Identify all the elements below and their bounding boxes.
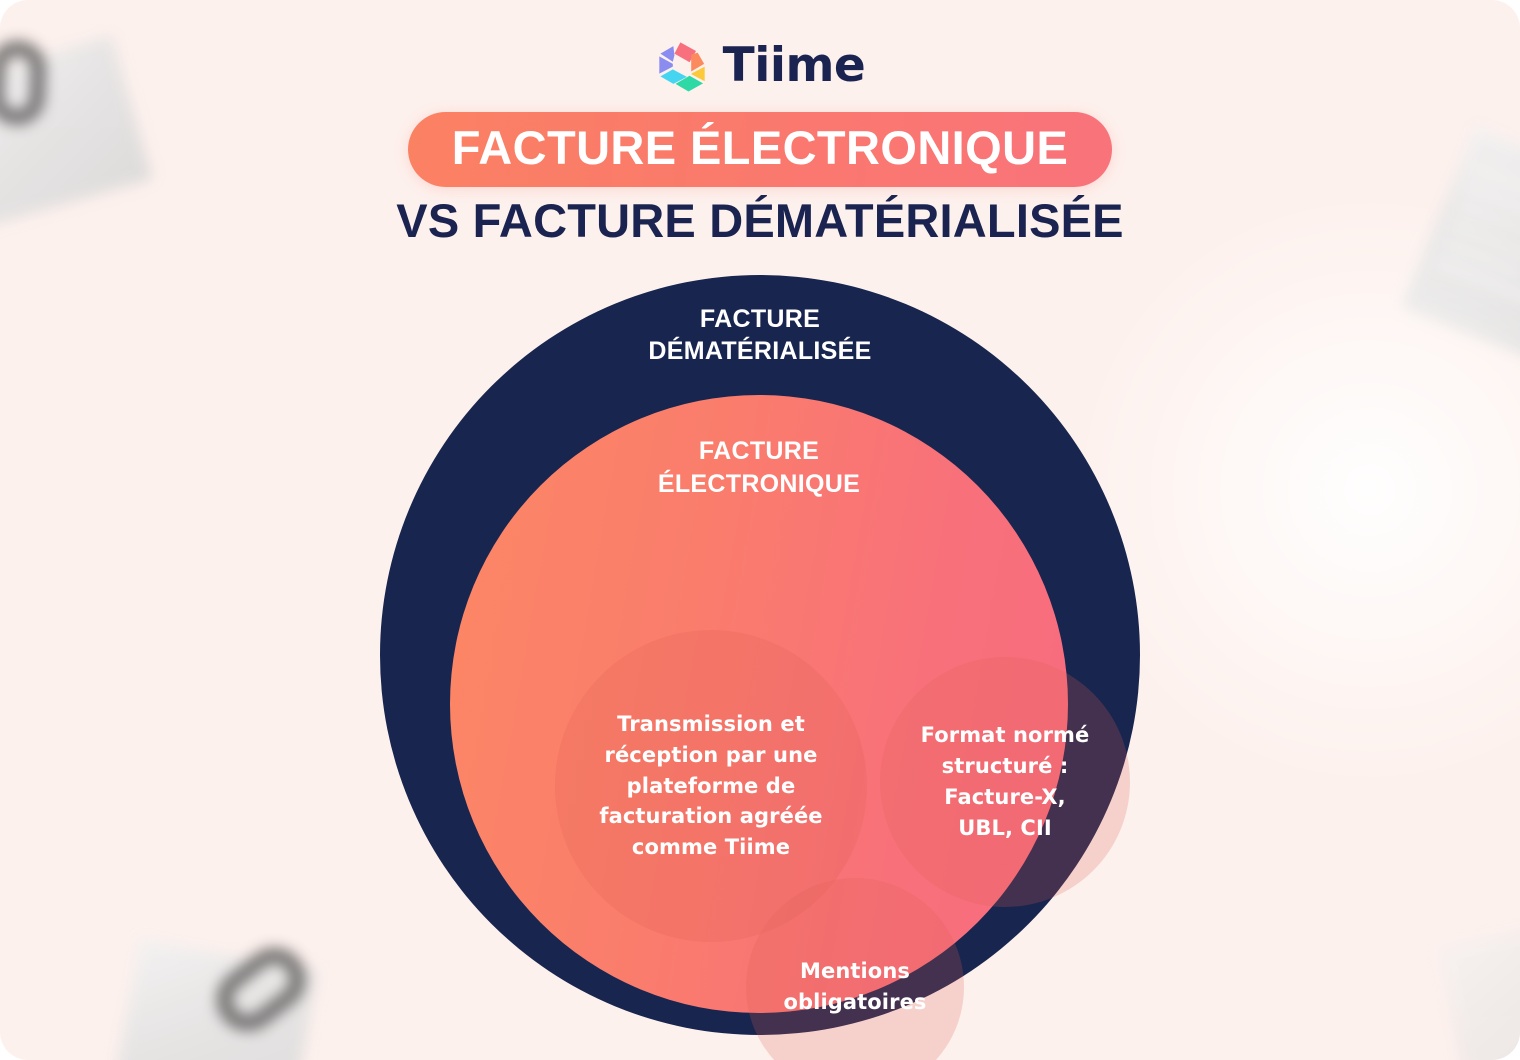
venn-diagram: FACTURE DÉMATÉRIALISÉE FACTURE ÉLECTRONI… [380,275,1140,1035]
sub-circle-format-label: Format normé structuré : Facture-X, UBL,… [913,720,1098,843]
paper-decoration-bottom-left [111,937,318,1060]
tiime-hexagon-logo-icon [655,38,709,92]
title-block: FACTURE ÉLECTRONIQUE VS FACTURE DÉMATÉRI… [0,112,1520,248]
paper-decoration-bottom-right [1437,916,1520,1060]
brand-name: Tiime [723,42,866,89]
paper-sheet [111,937,318,1060]
title-subtitle: VS FACTURE DÉMATÉRIALISÉE [0,195,1520,248]
title-badge-label: FACTURE ÉLECTRONIQUE [452,124,1068,171]
sub-circle-mentions-label: Mentions obligatoires [775,956,934,1018]
header: Tiime FACTURE ÉLECTRONIQUE VS FACTURE DÉ… [0,0,1520,248]
title-badge: FACTURE ÉLECTRONIQUE [408,112,1112,187]
outer-circle-label: FACTURE DÉMATÉRIALISÉE [380,303,1140,367]
infographic-canvas: Tiime FACTURE ÉLECTRONIQUE VS FACTURE DÉ… [0,0,1520,1060]
inner-circle-facture-electronique: FACTURE ÉLECTRONIQUE Transmission et réc… [450,395,1068,1013]
paper-sheet [1437,916,1520,1060]
brand-logo: Tiime [0,0,1520,92]
inner-circle-label: FACTURE ÉLECTRONIQUE [450,435,1068,500]
paper-text-line [1436,259,1520,305]
sub-circle-transmission-label: Transmission et réception par une platef… [591,709,830,863]
paper-clip-icon [204,935,318,1043]
sub-circle-format: Format normé structuré : Facture-X, UBL,… [880,657,1130,907]
